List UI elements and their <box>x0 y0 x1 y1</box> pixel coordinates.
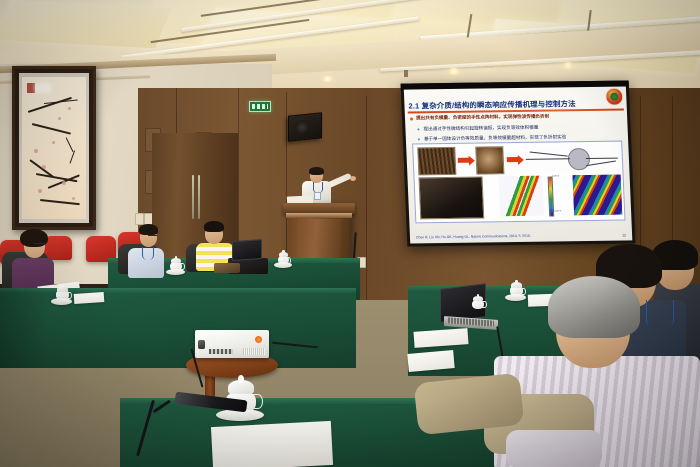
projection-screen: 2.1 复杂介质/结构的瞬态响应传播机理与控制方法 提出共有负模量、负密度的手性… <box>401 80 636 246</box>
slide-bullet-sub: 提出通过手性微结构引起旋转谐振，实现负等效体积模量 <box>423 125 538 133</box>
slide-page-number: 12 <box>622 233 626 237</box>
projector-vent <box>243 348 265 355</box>
presenter-badge <box>314 192 321 200</box>
saucer <box>505 294 526 301</box>
handout-document <box>211 421 333 467</box>
presenter-hair <box>309 167 324 175</box>
teacup <box>472 296 484 309</box>
projector-ports <box>209 349 233 354</box>
figure-photo-experiment <box>418 176 484 219</box>
attendee-glasses <box>34 243 45 246</box>
figure-heatmap-1 <box>499 176 545 217</box>
ceiling-light-panel <box>0 0 171 48</box>
attendee-striped-polo-hair <box>204 221 224 232</box>
speaker-cone <box>295 120 309 135</box>
institution-logo-icon <box>605 88 624 106</box>
figure-schematic <box>523 145 620 173</box>
attendee-arm <box>506 430 602 467</box>
projector <box>195 330 269 358</box>
exit-sign-glyph <box>252 104 268 109</box>
saucer <box>274 262 292 268</box>
table-edge <box>408 286 578 291</box>
attendee-seated-legs <box>414 373 525 436</box>
laptop-back-screen[interactable] <box>232 239 262 261</box>
figure-photo-unitcell <box>475 146 504 174</box>
figure-arrow <box>458 158 470 163</box>
presentation-slide: 2.1 复杂介质/结构的瞬态响应传播机理与控制方法 提出共有负模量、负密度的手性… <box>404 87 633 244</box>
handout-document <box>74 292 105 304</box>
colorbar-max-label: 12.0E+0 <box>552 175 560 177</box>
attendee-blue-shirt-hair <box>139 224 158 235</box>
exit-sign <box>249 101 271 112</box>
presenter-hand <box>350 176 356 181</box>
ceiling-fixture <box>404 70 408 77</box>
downlight <box>562 62 574 69</box>
panel-seam <box>366 96 367 318</box>
wall-artwork <box>12 66 96 230</box>
chair-red[interactable] <box>44 236 72 260</box>
slide-figure-panel: 12.0E+0 -12.0E+0 <box>412 141 625 224</box>
downlight <box>322 76 333 82</box>
slide-bullet-main: 提出共有负模量、负密度的手性点阵材料，实现弹性波传播负折射 <box>416 114 550 122</box>
colorbar-min-label: -12.0E+0 <box>553 210 561 212</box>
attendee-glasses <box>148 235 157 238</box>
figure-arrow <box>507 157 519 162</box>
figure-photo-lattice <box>417 147 456 176</box>
figure-heatmap-2 <box>573 175 623 216</box>
wall-speaker <box>288 112 322 142</box>
lectern-lip <box>286 213 352 218</box>
projector-brand-logo <box>255 336 262 343</box>
saucer <box>51 298 72 305</box>
ink-painting <box>22 77 86 219</box>
slide-citation: Chen R, Liu XN, Hu GK, Huang GL, Nature … <box>416 234 531 240</box>
attendee-grey-hair <box>548 276 640 338</box>
saucer <box>166 269 185 275</box>
folded-jacket <box>214 263 240 273</box>
door-handle[interactable] <box>198 175 200 219</box>
light-switch-plate[interactable] <box>135 213 144 225</box>
downlight <box>448 68 460 75</box>
attendee-navy-lanyard <box>646 300 674 326</box>
attendee-lanyard <box>142 247 154 260</box>
presentation-room-photo: 2.1 复杂介质/结构的瞬态响应传播机理与控制方法 提出共有负模量、负密度的手性… <box>0 0 700 467</box>
door-handle[interactable] <box>192 175 194 219</box>
glass-glare <box>33 82 50 93</box>
projector-lens <box>198 340 205 349</box>
